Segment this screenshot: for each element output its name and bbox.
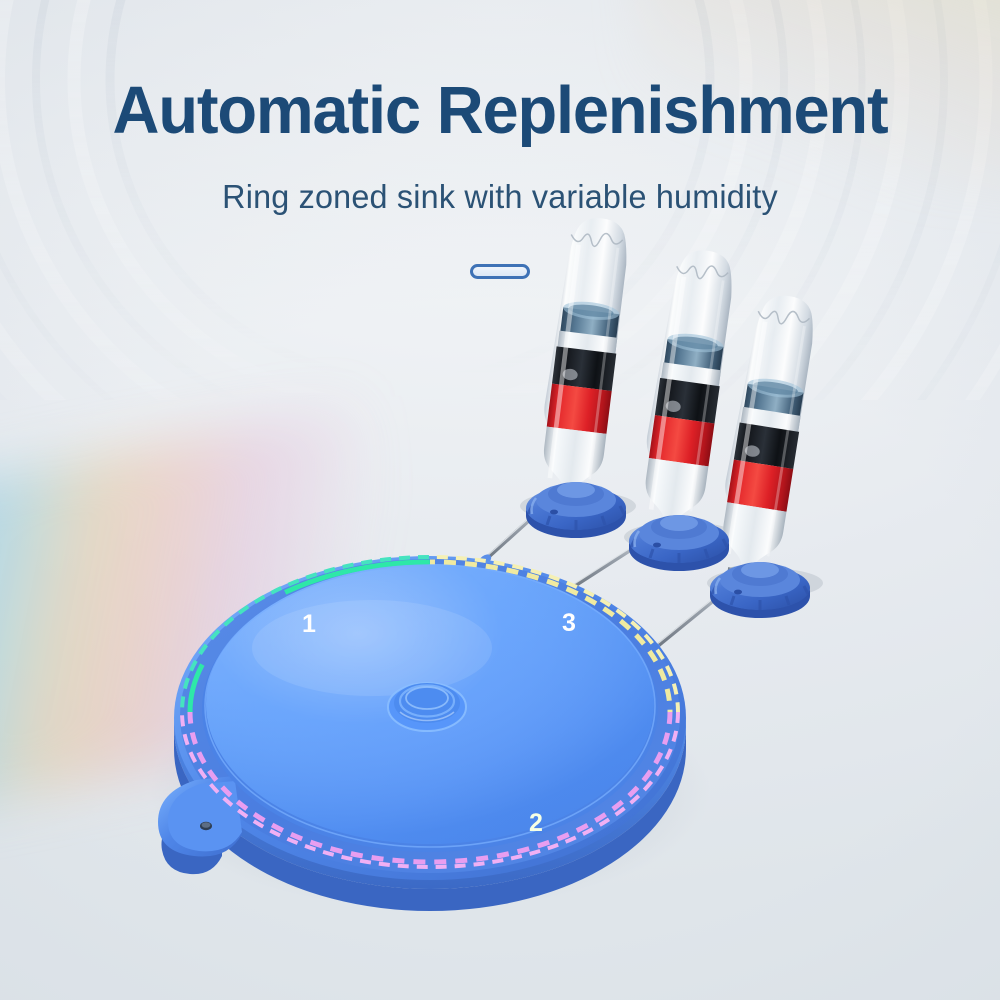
bottle-base-1[interactable] [526, 482, 626, 538]
zone-1-label: 1 [302, 610, 316, 638]
bottle-body-2 [634, 246, 739, 543]
water-bottle-2[interactable] [633, 246, 738, 546]
water-bottle-1[interactable] [532, 214, 632, 514]
bottle-base-2[interactable] [629, 515, 729, 571]
product-marketing-image: Automatic Replenishment Ring zoned sink … [0, 0, 1000, 1000]
center-drain-well-icon [388, 683, 466, 731]
zone-3-label: 3 [562, 609, 576, 637]
zone-2-label: 2 [529, 809, 543, 837]
bottle-body-1 [533, 214, 633, 510]
product-illustration: 1 3 2 [0, 0, 1000, 1000]
